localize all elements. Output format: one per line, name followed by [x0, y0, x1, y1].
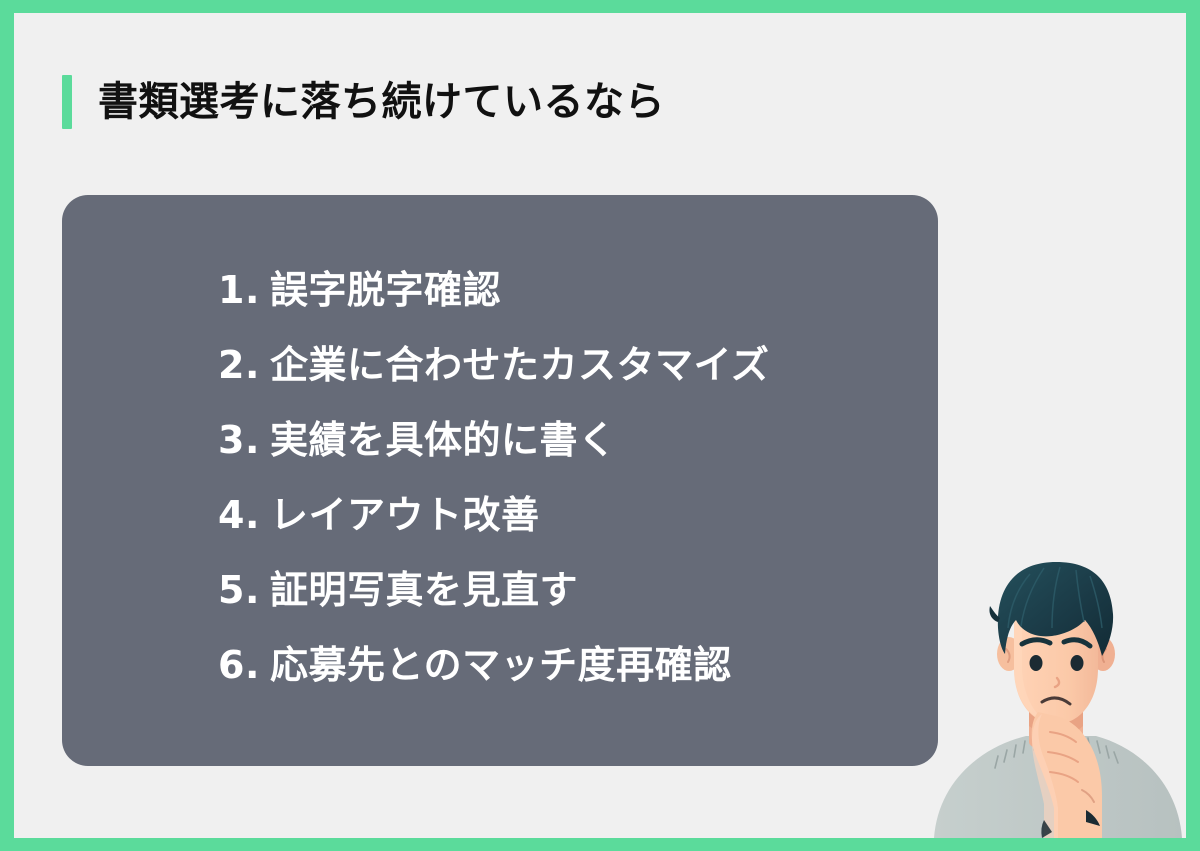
page-title-text: 書類選考に落ち続けているなら — [98, 82, 665, 122]
checklist: 1. 誤字脱字確認 2. 企業に合わせたカスタマイズ 3. 実績を具体的に書く … — [218, 259, 918, 709]
list-item: 5. 証明写真を見直す — [218, 559, 918, 634]
list-item-number: 5. — [218, 568, 270, 612]
slide-canvas: 書類選考に落ち続けているなら 1. 誤字脱字確認 2. 企業に合わせたカスタマイ… — [14, 13, 1186, 838]
slide-root: 書類選考に落ち続けているなら 1. 誤字脱字確認 2. 企業に合わせたカスタマイ… — [0, 0, 1200, 851]
page-title: 書類選考に落ち続けているなら — [62, 75, 665, 129]
list-item: 2. 企業に合わせたカスタマイズ — [218, 334, 918, 409]
list-item: 3. 実績を具体的に書く — [218, 409, 918, 484]
checklist-card: 1. 誤字脱字確認 2. 企業に合わせたカスタマイズ 3. 実績を具体的に書く … — [62, 195, 938, 766]
list-item: 4. レイアウト改善 — [218, 484, 918, 559]
list-item-number: 1. — [218, 268, 270, 312]
list-item-number: 3. — [218, 418, 270, 462]
title-accent-bar — [62, 75, 72, 129]
list-item-label: 企業に合わせたカスタマイズ — [270, 334, 769, 389]
list-item-number: 6. — [218, 643, 270, 687]
list-item-label: 応募先とのマッチ度再確認 — [270, 634, 732, 689]
thinking-man-illustration — [926, 546, 1186, 838]
list-item-label: 証明写真を見直す — [270, 559, 578, 614]
list-item: 1. 誤字脱字確認 — [218, 259, 918, 334]
list-item-number: 2. — [218, 343, 270, 387]
list-item-number: 4. — [218, 493, 270, 537]
list-item-label: レイアウト改善 — [270, 484, 540, 539]
list-item-label: 誤字脱字確認 — [270, 259, 501, 314]
list-item: 6. 応募先とのマッチ度再確認 — [218, 634, 918, 709]
list-item-label: 実績を具体的に書く — [270, 409, 617, 464]
